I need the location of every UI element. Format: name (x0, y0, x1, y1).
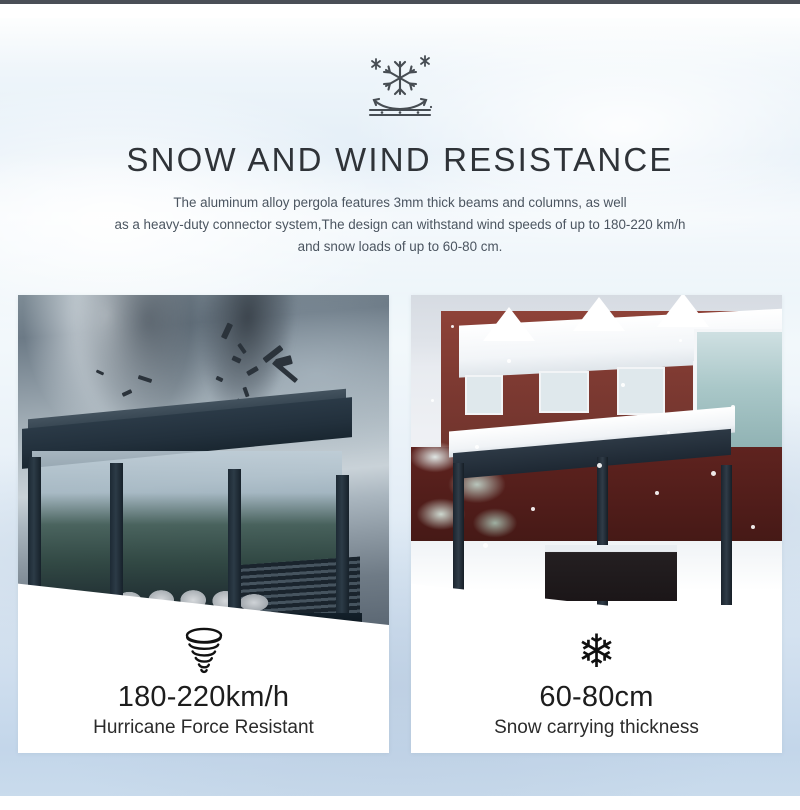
snow-label: Snow carrying thickness (411, 717, 782, 739)
hurricane-label: Hurricane Force Resistant (18, 717, 389, 739)
tornado-icon (174, 625, 234, 677)
bottom-white-strip (0, 796, 800, 810)
snowflake-icon: ❄ (411, 625, 782, 677)
snow-value: 60-80cm (411, 681, 782, 714)
snow-pergola-structure (449, 419, 739, 605)
snow-wind-resistance-page: SNOW AND WIND RESISTANCE The aluminum al… (0, 0, 800, 810)
card-hurricane[interactable]: 180-220km/h Hurricane Force Resistant (18, 295, 389, 753)
feature-cards: 180-220km/h Hurricane Force Resistant (18, 295, 782, 753)
snow-card-body: ❄ 60-80cm Snow carrying thickness (411, 625, 782, 753)
hurricane-value: 180-220km/h (18, 681, 389, 714)
hurricane-card-body: 180-220km/h Hurricane Force Resistant (18, 625, 389, 753)
snow-load-beam-icon (352, 50, 448, 128)
snow-photo (411, 295, 782, 625)
hurricane-photo (18, 295, 389, 625)
header-section: SNOW AND WIND RESISTANCE The aluminum al… (0, 18, 800, 257)
page-title: SNOW AND WIND RESISTANCE (0, 142, 800, 178)
page-description: The aluminum alloy pergola features 3mm … (90, 192, 710, 257)
card-snow[interactable]: ❄ 60-80cm Snow carrying thickness (411, 295, 782, 753)
